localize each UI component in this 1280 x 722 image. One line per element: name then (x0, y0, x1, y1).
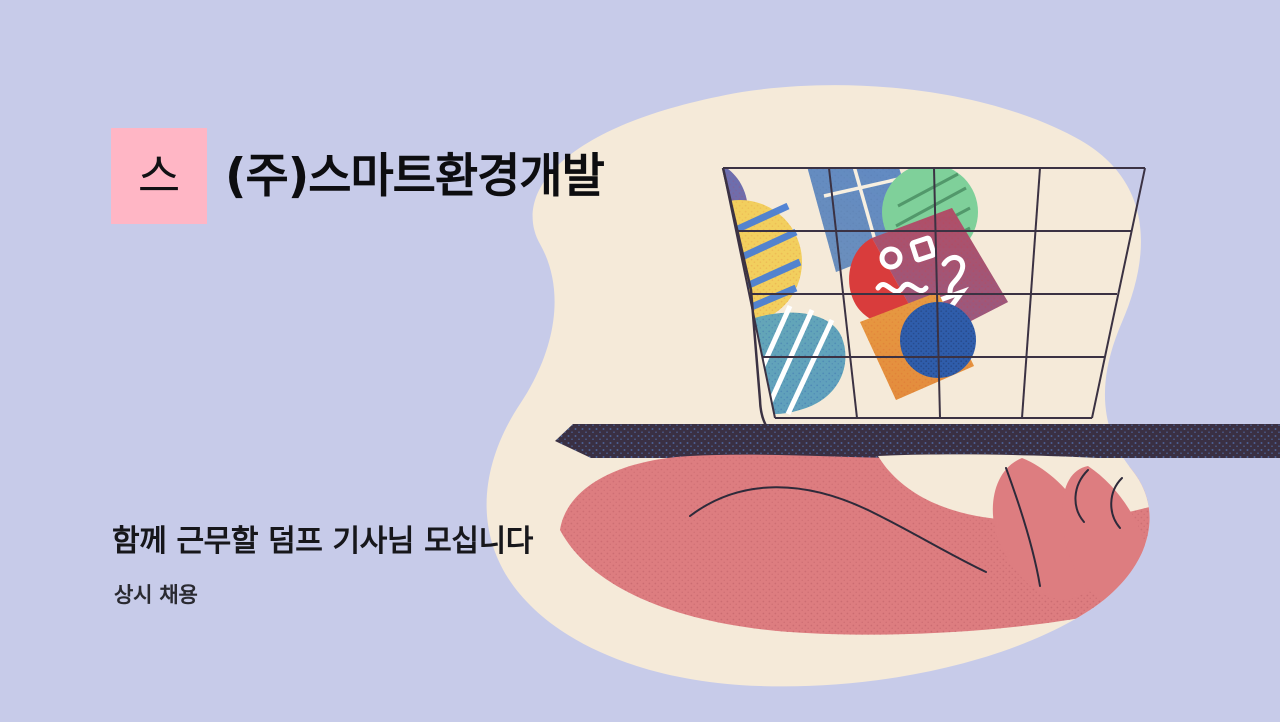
ribbon-bow (835, 92, 919, 141)
job-subline: 상시 채용 (114, 583, 198, 608)
hand-illustration (560, 454, 1160, 634)
company-logo: 스 (111, 128, 207, 224)
shopping-cart (637, 92, 1145, 467)
gift-red-blob (637, 158, 748, 266)
gift-green-circle (882, 164, 978, 260)
company-header: 스 (주)스마트환경개발 (111, 128, 604, 224)
dark-tray-bar (555, 424, 1280, 458)
shopping-cart-illustration (0, 0, 1280, 722)
gift-yellow-circle (678, 200, 802, 324)
job-headline: 함께 근무할 덤프 기사님 모십니다 (112, 524, 533, 560)
poster-background (0, 0, 1280, 722)
company-name: (주)스마트환경개발 (225, 153, 604, 200)
gift-blue-box (799, 92, 923, 272)
cart-frame (723, 168, 1100, 446)
gift-green-blue-blob (725, 306, 846, 414)
company-initial-icon: 스 (138, 153, 180, 199)
job-posting-poster: 스 (주)스마트환경개발 함께 근무할 덤프 기사님 모십니다 상시 채용 (0, 0, 1280, 722)
gift-navy-ball (900, 302, 976, 378)
gift-orange-square (860, 292, 974, 400)
gift-red-tag (849, 208, 1008, 342)
cart-wheels (785, 437, 935, 467)
cart-contents (637, 92, 1008, 414)
cart-wireframe (723, 168, 1145, 418)
